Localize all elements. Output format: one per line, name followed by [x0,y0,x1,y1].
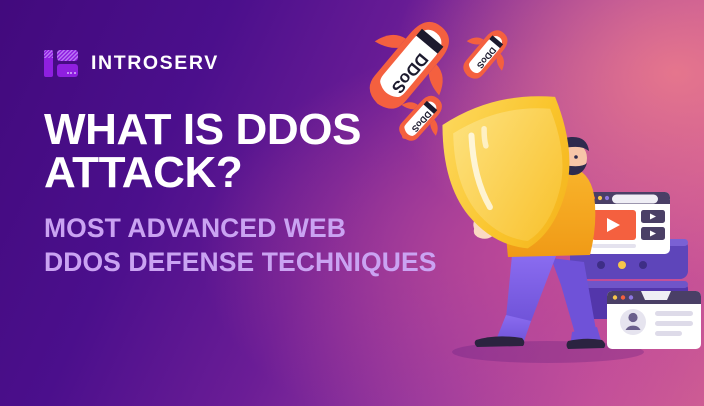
page-title: WHAT IS DDOS ATTACK? [44,108,444,194]
brand-name: INTROSERV [91,54,219,74]
server-rack [570,239,688,319]
brand-logo[interactable]: INTROSERV [44,50,219,77]
introserv-server-mark-icon [44,50,78,77]
rocket-label: DDoS [388,50,432,98]
floor-shadow [452,341,644,363]
headline-line-2: ATTACK? [44,151,444,194]
subhead-line-2: DDOS DEFENSE TECHNIQUES [44,246,544,280]
page-subtitle: MOST ADVANCED WEB DDOS DEFENSE TECHNIQUE… [44,212,544,279]
rocket-small-right: DDoS [450,18,521,90]
headline-line-1: WHAT IS DDOS [44,105,361,154]
rocket-label: DDoS [475,45,498,70]
subhead-line-1: MOST ADVANCED WEB [44,213,346,243]
ddos-hero-banner: DDoS DDoS DDoS [0,0,704,406]
profile-card-window [607,291,701,349]
video-player-window [586,192,670,254]
